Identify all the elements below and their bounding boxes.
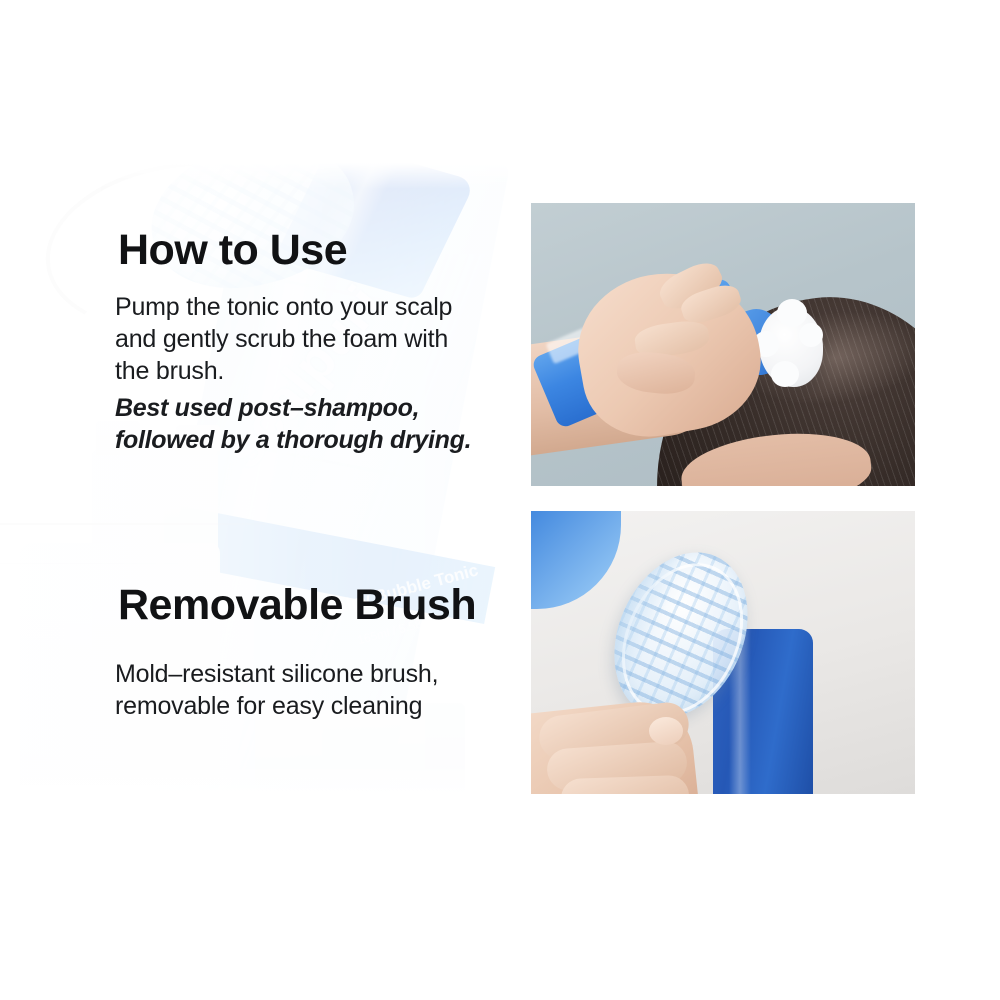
foam-bubble <box>771 361 799 387</box>
foam-bubble <box>799 323 823 347</box>
emphasis-line: Best used post–shampoo, <box>115 392 515 424</box>
body-line: removable for easy cleaning <box>115 690 515 722</box>
body-line: Pump the tonic onto your scalp <box>115 291 515 323</box>
section-body-removable-brush: Mold–resistant silicone brush, removable… <box>115 658 515 722</box>
copy-column: How to Use Pump the tonic onto your scal… <box>0 0 530 1000</box>
finger <box>560 775 689 794</box>
emphasis-line: followed by a thorough drying. <box>115 424 515 456</box>
section-body-how-to-use: Pump the tonic onto your scalp and gentl… <box>115 291 515 456</box>
body-line: Mold–resistant silicone brush, <box>115 658 515 690</box>
foam-bubble <box>777 299 807 327</box>
body-line: and gently scrub the foam with <box>115 323 515 355</box>
photo-scalp-application <box>531 203 915 486</box>
emphasis-group: Best used post–shampoo, followed by a th… <box>115 392 515 456</box>
photo-removable-brush <box>531 511 915 794</box>
product-detail-page: scalpuri Scalpy Bubble Tonic 165ml / 5.5… <box>0 0 1000 1000</box>
fingernail <box>649 717 683 745</box>
section-heading-removable-brush: Removable Brush <box>118 584 476 627</box>
body-line: the brush. <box>115 355 515 387</box>
section-heading-how-to-use: How to Use <box>118 229 347 272</box>
